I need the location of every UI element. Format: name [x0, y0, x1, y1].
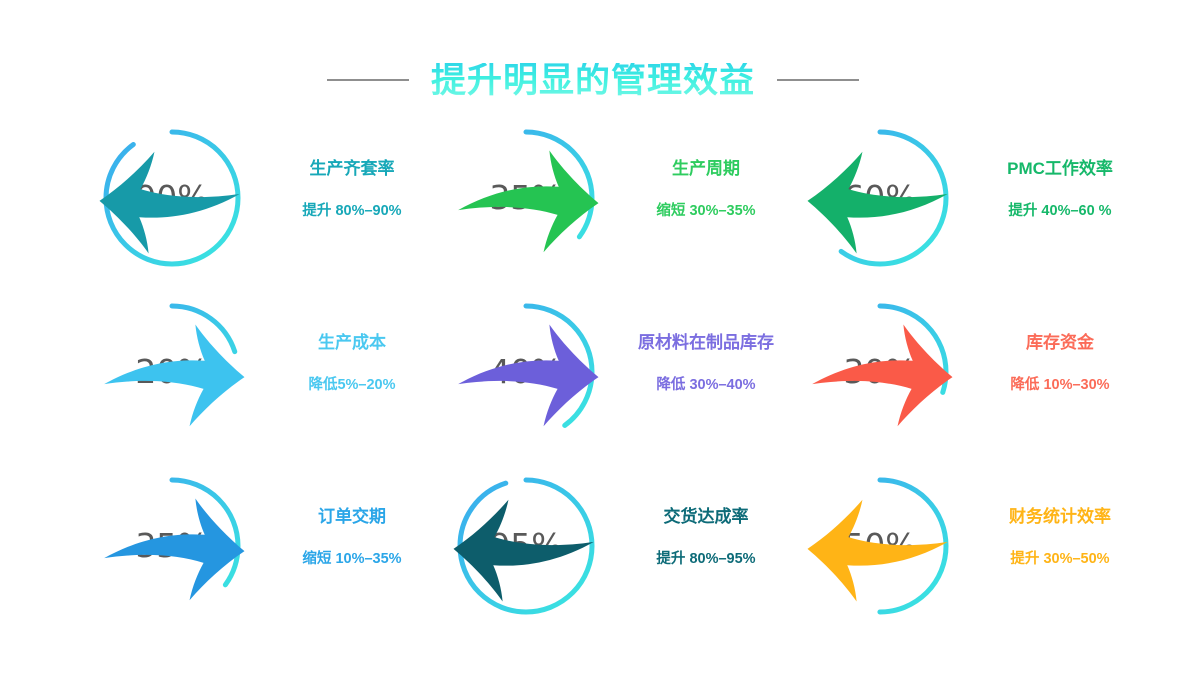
- metric-card[interactable]: 50%财务统计效率提升 30%–50%: [804, 470, 1158, 644]
- metric-title: 生产齐套率: [254, 160, 450, 179]
- ring-center: 30%: [804, 296, 956, 448]
- progress-ring: 95%: [450, 470, 602, 622]
- metric-card[interactable]: 95%交货达成率提升 80%–95%: [450, 470, 804, 644]
- metric-card[interactable]: 90%生产齐套率提升 80%–90%: [96, 122, 450, 296]
- ring-center: 90%: [96, 122, 248, 274]
- page-title: 提升明显的管理效益: [431, 63, 755, 98]
- metric-title: 财务统计效率: [962, 508, 1158, 527]
- ring-center: 40%: [450, 296, 602, 448]
- up-arrow-icon: [450, 474, 602, 626]
- up-arrow-icon: [96, 126, 248, 278]
- metric-subtitle: 降低 30%–40%: [608, 378, 804, 394]
- down-arrow-icon: [450, 126, 602, 278]
- ring-center: 35%: [96, 470, 248, 622]
- metric-subtitle: 降低 10%–30%: [962, 378, 1158, 394]
- progress-ring: 30%: [804, 296, 956, 448]
- down-arrow-icon: [804, 300, 956, 452]
- metric-title: 生产成本: [254, 334, 450, 353]
- progress-ring: 35%: [450, 122, 602, 274]
- metric-text-block: 生产齐套率提升 80%–90%: [254, 122, 450, 220]
- metric-card[interactable]: 35%订单交期缩短 10%–35%: [96, 470, 450, 644]
- metric-title: 生产周期: [608, 160, 804, 179]
- ring-center: 60%: [804, 122, 956, 274]
- metric-title: 交货达成率: [608, 508, 804, 527]
- down-arrow-icon: [450, 300, 602, 452]
- metric-text-block: 生产成本降低5%–20%: [254, 296, 450, 394]
- metric-text-block: 生产周期缩短 30%–35%: [608, 122, 804, 220]
- down-arrow-icon: [96, 300, 248, 452]
- progress-ring: 60%: [804, 122, 956, 274]
- metric-text-block: PMC工作效率提升 40%–60 %: [962, 122, 1158, 220]
- metric-subtitle: 提升 30%–50%: [962, 552, 1158, 568]
- down-arrow-icon: [96, 474, 248, 626]
- metrics-grid: 90%生产齐套率提升 80%–90%35%生产周期缩短 30%–35%60%PM…: [96, 122, 1106, 644]
- metric-subtitle: 缩短 10%–35%: [254, 552, 450, 568]
- metric-text-block: 库存资金降低 10%–30%: [962, 296, 1158, 394]
- metric-subtitle: 提升 40%–60 %: [962, 204, 1158, 220]
- metric-title: 订单交期: [254, 508, 450, 527]
- ring-center: 20%: [96, 296, 248, 448]
- ring-center: 35%: [450, 122, 602, 274]
- metric-text-block: 订单交期缩短 10%–35%: [254, 470, 450, 568]
- metric-card[interactable]: 40%原材料在制品库存降低 30%–40%: [450, 296, 804, 470]
- up-arrow-icon: [804, 474, 956, 626]
- progress-ring: 20%: [96, 296, 248, 448]
- header-rule-right: [777, 79, 859, 81]
- metric-text-block: 财务统计效率提升 30%–50%: [962, 470, 1158, 568]
- page-header: 提升明显的管理效益: [0, 52, 1186, 108]
- ring-center: 50%: [804, 470, 956, 622]
- up-arrow-icon: [804, 126, 956, 278]
- metric-subtitle: 提升 80%–90%: [254, 204, 450, 220]
- metric-subtitle: 降低5%–20%: [254, 378, 450, 394]
- metric-title: PMC工作效率: [962, 160, 1158, 179]
- header-rule-left: [327, 79, 409, 81]
- metric-title: 原材料在制品库存: [608, 334, 804, 353]
- progress-ring: 50%: [804, 470, 956, 622]
- progress-ring: 35%: [96, 470, 248, 622]
- ring-center: 95%: [450, 470, 602, 622]
- progress-ring: 90%: [96, 122, 248, 274]
- metric-card[interactable]: 60%PMC工作效率提升 40%–60 %: [804, 122, 1158, 296]
- metric-card[interactable]: 35%生产周期缩短 30%–35%: [450, 122, 804, 296]
- metric-text-block: 交货达成率提升 80%–95%: [608, 470, 804, 568]
- metric-card[interactable]: 20%生产成本降低5%–20%: [96, 296, 450, 470]
- metric-subtitle: 提升 80%–95%: [608, 552, 804, 568]
- metric-card[interactable]: 30%库存资金降低 10%–30%: [804, 296, 1158, 470]
- metric-text-block: 原材料在制品库存降低 30%–40%: [608, 296, 804, 394]
- metric-title: 库存资金: [962, 334, 1158, 353]
- metric-subtitle: 缩短 30%–35%: [608, 204, 804, 220]
- progress-ring: 40%: [450, 296, 602, 448]
